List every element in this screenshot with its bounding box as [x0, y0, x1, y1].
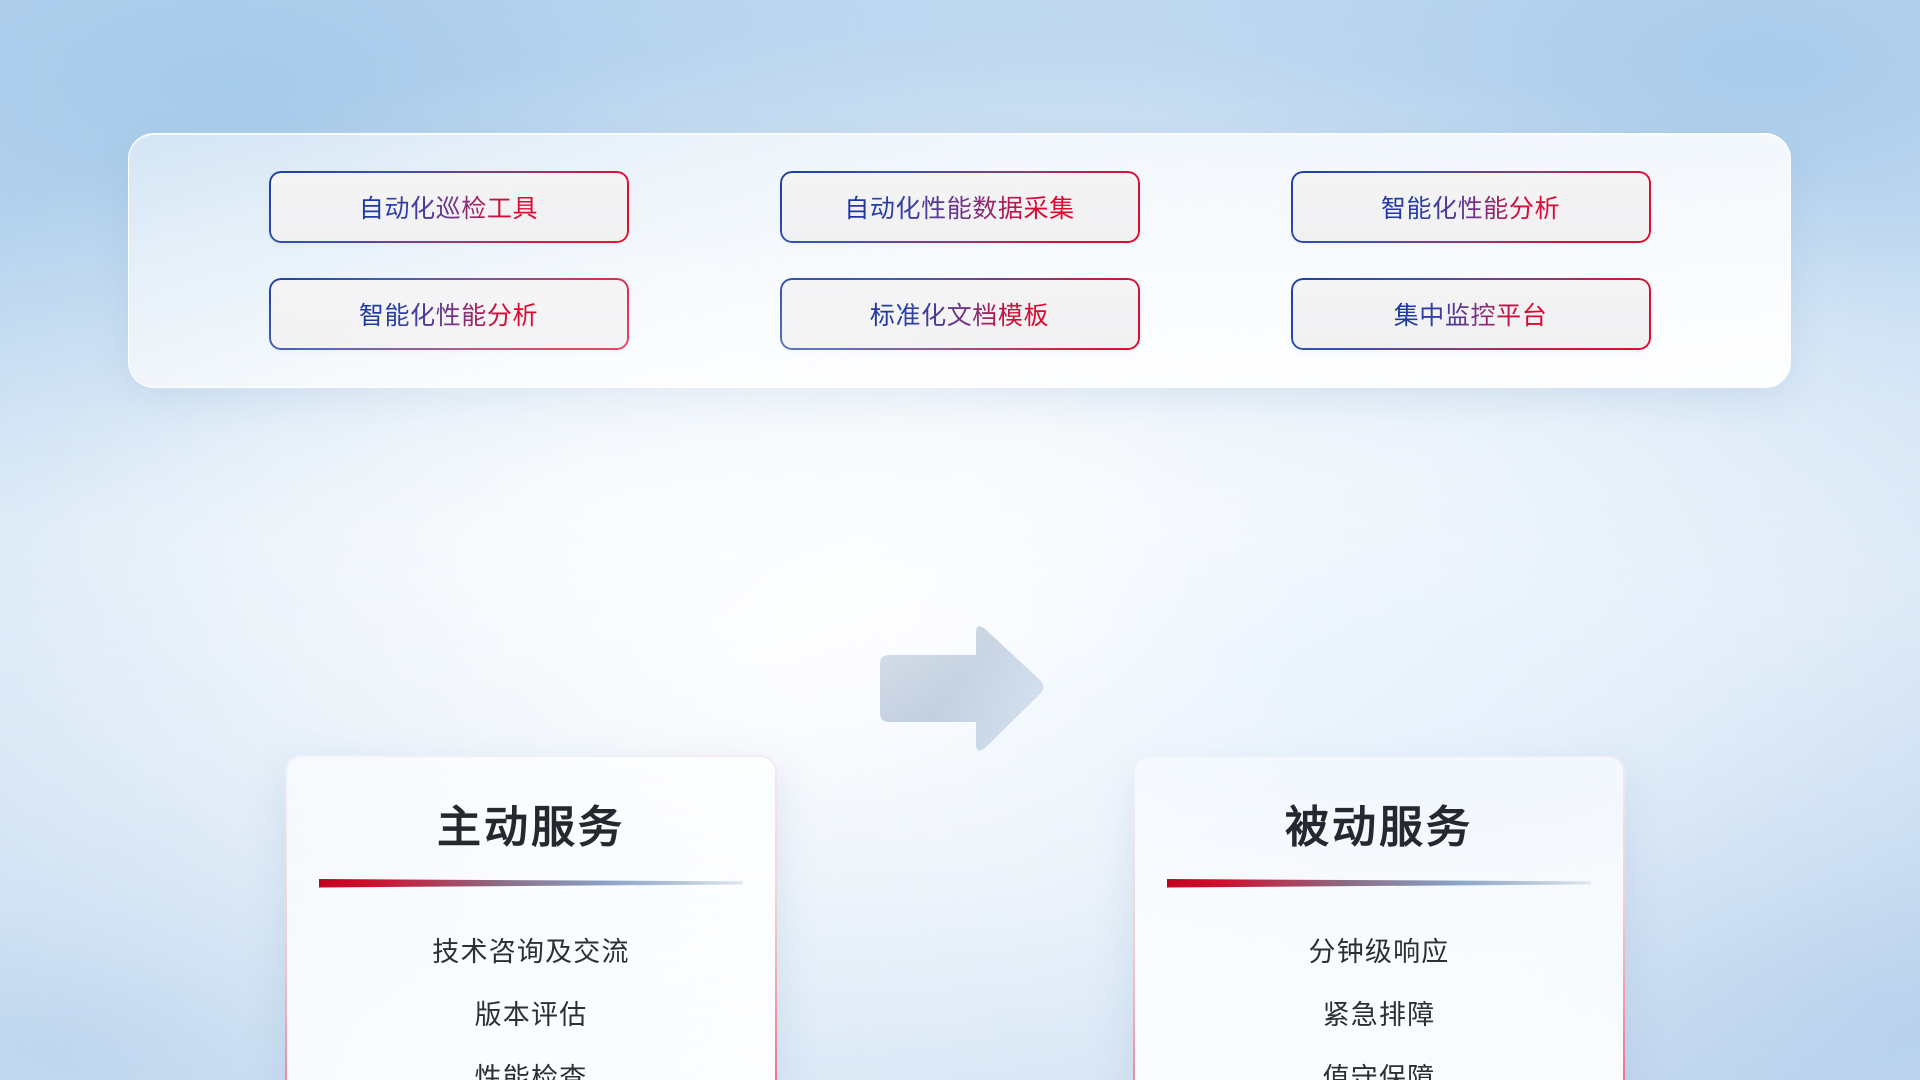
list-item: 性能检查 — [475, 1047, 588, 1080]
capability-tag[interactable]: 自动化巡检工具 — [271, 173, 627, 241]
capability-tag[interactable]: 自动化性能数据采集 — [782, 173, 1138, 241]
capability-tag[interactable]: 智能化性能分析 — [271, 280, 627, 348]
capability-tag-label: 智能化性能分析 — [1381, 189, 1560, 225]
capability-tag-label: 自动化性能数据采集 — [844, 189, 1074, 225]
list-item: 分钟级响应 — [1309, 921, 1450, 984]
list-item: 紧急排障 — [1323, 984, 1436, 1047]
capability-tag-label: 自动化巡检工具 — [359, 189, 538, 225]
service-card-active: 主动服务 — [285, 755, 777, 1080]
right-arrow-icon — [872, 620, 1047, 760]
slide-canvas: 自动化巡检工具 自动化性能数据采集 智能化性能分析 智能化性能分析 标准化文档模… — [0, 0, 1920, 1080]
list-item: 版本评估 — [475, 984, 588, 1047]
capability-tag-label: 智能化性能分析 — [359, 296, 538, 332]
capability-tag[interactable]: 集中监控平台 — [1293, 280, 1649, 348]
list-item: 值守保障 — [1323, 1047, 1436, 1080]
service-card-title: 主动服务 — [437, 791, 625, 855]
service-card-title: 被动服务 — [1285, 791, 1473, 855]
card-divider — [319, 877, 743, 891]
service-card-passive: 被动服务 — [1133, 755, 1625, 1080]
list-item: 技术咨询及交流 — [432, 921, 629, 984]
capability-tag[interactable]: 标准化文档模板 — [782, 280, 1138, 348]
capability-tag-label: 集中监控平台 — [1394, 296, 1548, 332]
capability-tag[interactable]: 智能化性能分析 — [1293, 173, 1649, 241]
capability-tags-panel: 自动化巡检工具 自动化性能数据采集 智能化性能分析 智能化性能分析 标准化文档模… — [128, 133, 1791, 388]
service-card-list: 技术咨询及交流 版本评估 性能检查 自动化监控与告警 健康巡检 — [285, 921, 777, 1080]
card-divider — [1167, 877, 1591, 891]
service-card-list: 分钟级响应 紧急排障 值守保障 问题诊断解决 SLA式服务 — [1133, 921, 1625, 1080]
capability-tag-label: 标准化文档模板 — [870, 296, 1049, 332]
